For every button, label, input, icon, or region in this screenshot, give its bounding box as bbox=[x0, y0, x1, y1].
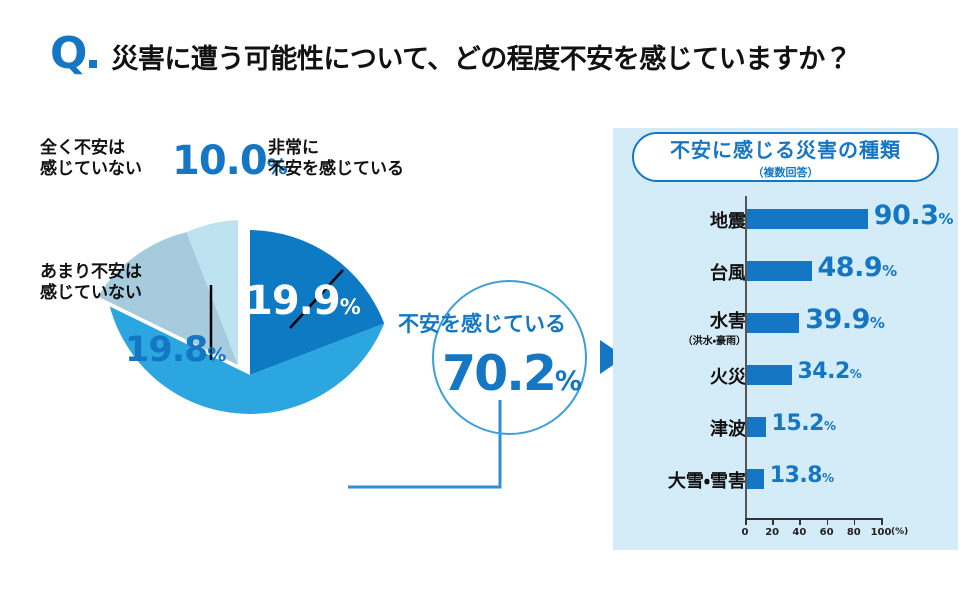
panel-title: 不安に感じる災害の種類 bbox=[670, 134, 901, 163]
bar-fill bbox=[745, 417, 766, 437]
pie-value-not-much: 19.8% bbox=[125, 330, 226, 370]
bar-value-label: 13.8% bbox=[770, 463, 834, 488]
bar-category-label: 水害 bbox=[606, 307, 746, 333]
pie-label-not-much: あまり不安は 感じていない bbox=[40, 262, 142, 305]
bar-chart-baseline bbox=[745, 518, 881, 520]
bar-fill bbox=[745, 261, 812, 281]
axis-tick bbox=[854, 518, 856, 525]
pie-value-very-anxious: 19.9% bbox=[245, 278, 361, 324]
bar-value-label: 90.3% bbox=[874, 200, 954, 231]
bar-fill bbox=[745, 209, 868, 229]
summary-circle-value: 70.2% bbox=[442, 345, 582, 402]
bar-category-label: 地震 bbox=[606, 207, 746, 233]
axis-tick bbox=[772, 518, 774, 525]
axis-tick-label: 0 bbox=[742, 527, 749, 538]
axis-tick bbox=[881, 518, 883, 525]
bar-category-label: 台風 bbox=[606, 259, 746, 285]
bar-value-label: 48.9% bbox=[818, 252, 898, 283]
panel-header: 不安に感じる災害の種類 （複数回答） bbox=[632, 132, 939, 182]
infographic-root: Q 災害に遭う可能性について、どの程度不安を感じていますか？ 全く不安は 感じて… bbox=[0, 0, 970, 600]
pie-value-somewhat-anxious: 50.3% bbox=[193, 436, 309, 482]
axis-tick-label: 60 bbox=[820, 527, 834, 538]
page-title-text: 災害に遭う可能性について、どの程度不安を感じていますか？ bbox=[111, 37, 851, 76]
bar-value-label: 34.2% bbox=[798, 359, 862, 384]
bar-category-label: 火災 bbox=[606, 363, 746, 389]
bar-fill bbox=[745, 365, 792, 385]
bar-chart-axis bbox=[745, 196, 747, 518]
bar-fill bbox=[745, 469, 764, 489]
axis-tick bbox=[827, 518, 829, 525]
pie-inlabel-somewhat-anxious: やや不安を感じている bbox=[160, 412, 330, 437]
axis-tick-label: 80 bbox=[847, 527, 861, 538]
question-mark-icon: Q bbox=[50, 32, 97, 76]
bar-chart-unit-label: (%) bbox=[891, 527, 908, 537]
bar-category-label: 津波 bbox=[606, 415, 746, 441]
panel-subtitle: （複数回答） bbox=[753, 164, 819, 180]
axis-tick bbox=[745, 518, 747, 525]
axis-tick-label: 100 bbox=[871, 527, 892, 538]
pie-label-not-at-all: 全く不安は 感じていない bbox=[40, 138, 142, 181]
bar-category-sublabel: （洪水・豪雨） bbox=[606, 332, 746, 347]
pie-label-very-anxious: 非常に 不安を感じている bbox=[268, 138, 404, 181]
axis-tick-label: 40 bbox=[792, 527, 806, 538]
axis-tick bbox=[799, 518, 801, 525]
bar-fill bbox=[745, 313, 799, 333]
page-title: Q 災害に遭う可能性について、どの程度不安を感じていますか？ bbox=[50, 32, 851, 76]
bar-category-label: 大雪・雪害 bbox=[606, 467, 746, 493]
summary-circle-title: 不安を感じている bbox=[398, 308, 566, 338]
axis-tick-label: 20 bbox=[765, 527, 779, 538]
bar-value-label: 39.9% bbox=[805, 304, 885, 335]
bar-value-label: 15.2% bbox=[772, 411, 836, 436]
